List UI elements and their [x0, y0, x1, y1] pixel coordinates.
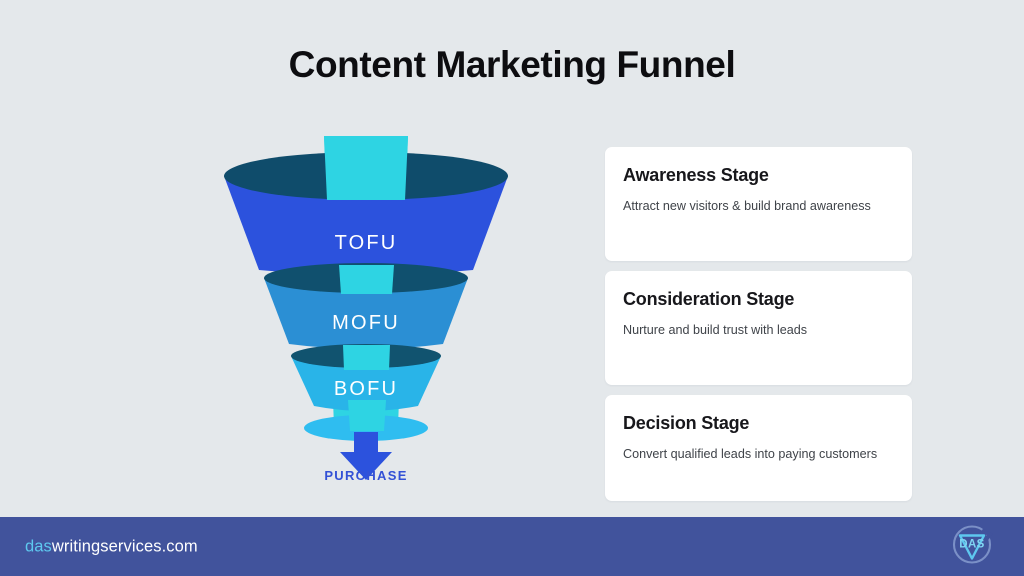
stage-card-description: Nurture and build trust with leads: [623, 320, 894, 342]
funnel-label-tofu: TOFU: [196, 232, 536, 255]
stage-card-title: Awareness Stage: [623, 165, 894, 186]
purchase-label: PURCHASE: [196, 468, 536, 483]
page-title: Content Marketing Funnel: [0, 44, 1024, 86]
funnel-diagram: TOFU MOFU BOFU PURCHASE: [196, 128, 536, 500]
slide-canvas: Content Marketing Funnel: [0, 0, 1024, 576]
stage-card-description: Attract new visitors & build brand aware…: [623, 196, 894, 218]
svg-text:DAS: DAS: [959, 538, 984, 550]
funnel-label-mofu: MOFU: [196, 312, 536, 335]
das-logo: DAS: [944, 521, 1000, 572]
footer-bar: daswritingservices.com DAS: [0, 517, 1024, 576]
funnel-label-bofu: BOFU: [196, 378, 536, 401]
funnel-stage-mofu: [264, 263, 468, 349]
stage-card-decision[interactable]: Decision Stage Convert qualified leads i…: [605, 395, 912, 501]
footer-url-accent: das: [25, 537, 52, 555]
mofu-stream: [339, 265, 394, 294]
footer-url-rest: writingservices.com: [52, 537, 198, 555]
footer-website-url[interactable]: daswritingservices.com: [25, 537, 198, 556]
stage-card-title: Consideration Stage: [623, 289, 894, 310]
stage-card-awareness[interactable]: Awareness Stage Attract new visitors & b…: [605, 147, 912, 261]
funnel-outflow-stream: [348, 400, 386, 431]
das-logo-icon: DAS: [944, 521, 1000, 567]
stage-card-consideration[interactable]: Consideration Stage Nurture and build tr…: [605, 271, 912, 385]
bofu-stream: [343, 345, 390, 370]
stage-card-description: Convert qualified leads into paying cust…: [623, 444, 894, 466]
tofu-stream-top: [324, 136, 408, 200]
stage-card-title: Decision Stage: [623, 413, 894, 434]
stage-card-list: Awareness Stage Attract new visitors & b…: [605, 147, 912, 501]
